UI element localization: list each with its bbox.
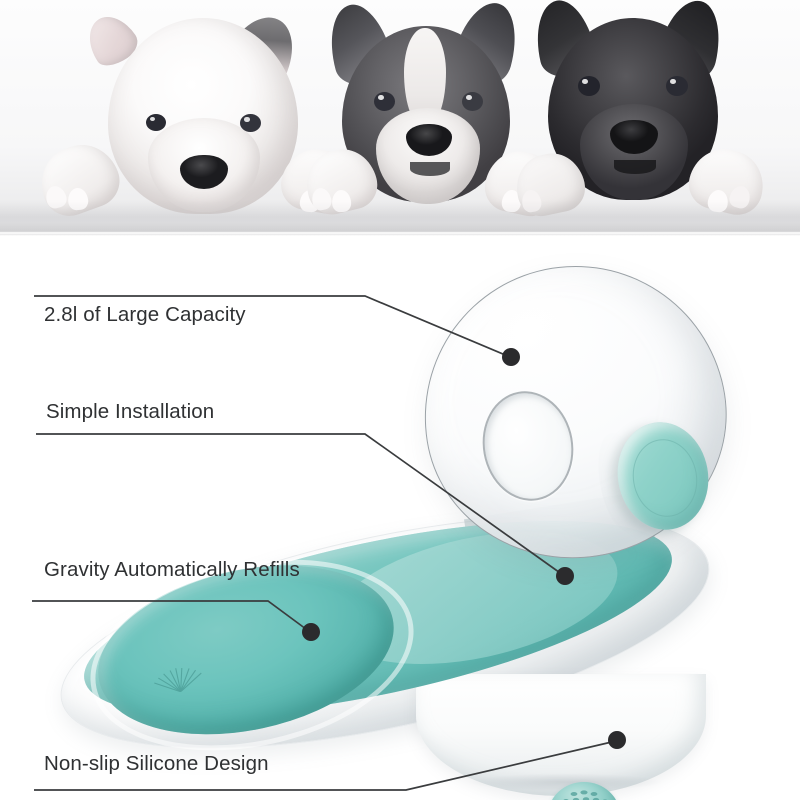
product-infographic-page: 2.8l of Large Capacity Simple Installati…: [0, 0, 800, 800]
callout-label-installation: Simple Installation: [46, 400, 214, 424]
ledge-shadow: [0, 200, 800, 232]
dome-strainer-holes-icon: [552, 786, 616, 800]
callout-label-gravity: Gravity Automatically Refills: [44, 558, 300, 582]
ledge-edge-line: [0, 231, 800, 232]
puppy-white-eye-right: [240, 114, 261, 132]
callout-label-silicone: Non-slip Silicone Design: [44, 752, 269, 776]
puppy-white-eye-left: [146, 114, 166, 131]
puppy-dark-eye-left: [578, 76, 600, 96]
ledge-edge-line-soft: [0, 234, 800, 235]
puppy-pied-eye-left: [374, 92, 395, 111]
puppy-pied-mouth: [410, 162, 450, 176]
puppy-dark-mouth: [614, 160, 656, 174]
puppy-pied-eye-right: [462, 92, 483, 111]
hero-photo-puppies: [0, 0, 800, 236]
puppy-dark-eye-right: [666, 76, 688, 96]
callout-label-capacity: 2.8l of Large Capacity: [44, 303, 246, 327]
